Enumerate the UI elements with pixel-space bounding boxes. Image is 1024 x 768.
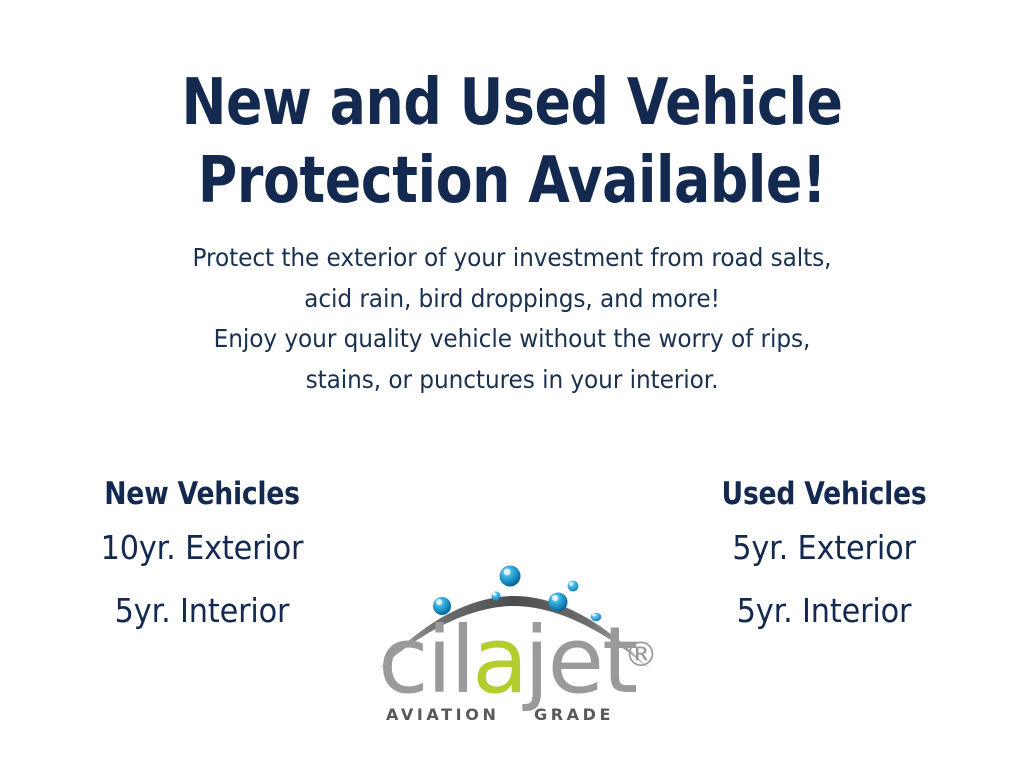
subtitle-line-4: stains, or punctures in your interior. [36,360,988,401]
new-vehicles-column: New Vehicles 10yr. Exterior 5yr. Interio… [12,472,392,642]
used-vehicles-exterior-term: 5yr. Exterior [649,516,999,579]
logo-tagline-grade: GRADE [534,705,614,724]
page-title-line-1: New and Used Vehicle [181,66,842,140]
page-title-line-2: Protection Available! [82,142,942,220]
page-title: New and Used Vehicle Protection Availabl… [82,64,942,220]
new-vehicles-interior-term: 5yr. Interior [27,579,377,642]
subtitle-line-2: acid rain, bird droppings, and more! [36,279,988,320]
cilajet-logo: cil a jet ® AVIATION GRADE [368,552,660,728]
used-vehicles-interior-term: 5yr. Interior [649,579,999,642]
slide-canvas: New and Used Vehicle Protection Availabl… [0,0,1024,768]
logo-wordmark-a: a [472,607,526,714]
logo-wordmark: cil a jet ® [378,607,658,714]
used-vehicles-heading: Used Vehicles [661,472,988,516]
subtitle-line-1: Protect the exterior of your investment … [36,238,988,279]
used-vehicles-column: Used Vehicles 5yr. Exterior 5yr. Interio… [634,472,1014,642]
new-vehicles-exterior-term: 10yr. Exterior [27,516,377,579]
logo-tagline-aviation: AVIATION [386,705,499,724]
subtitle-paragraph: Protect the exterior of your investment … [36,238,988,400]
logo-wordmark-jet: jet [522,607,636,714]
logo-wordmark-cil: cil [378,607,474,714]
subtitle-line-3: Enjoy your quality vehicle without the w… [36,319,988,360]
logo-registered-icon: ® [624,635,658,675]
new-vehicles-heading: New Vehicles [39,472,366,516]
